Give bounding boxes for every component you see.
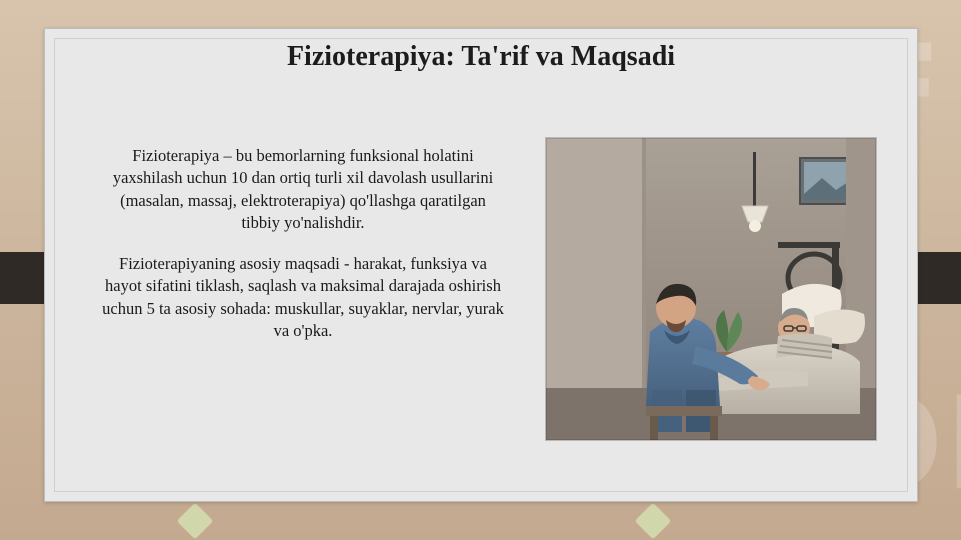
- paragraph-spacer: [101, 234, 505, 253]
- slide-card: Fizioterapiya: Ta'rif va Maqsadi Fiziote…: [44, 28, 918, 502]
- paragraph-purpose: Fizioterapiyaning asosiy maqsadi - harak…: [101, 253, 505, 342]
- slide-photo: [545, 137, 877, 441]
- slide-title: Fizioterapiya: Ta'rif va Maqsadi: [45, 41, 917, 73]
- diamond-decoration: [635, 503, 672, 540]
- slide-canvas: SOFF SOFF SOFF SOFF S S Fizioterapiya: T…: [0, 0, 961, 540]
- paragraph-definition: Fizioterapiya – bu bemorlarning funksion…: [101, 145, 505, 234]
- slide-body: Fizioterapiya – bu bemorlarning funksion…: [101, 145, 505, 342]
- photo-illustration: [546, 138, 876, 440]
- diamond-decoration: [177, 503, 214, 540]
